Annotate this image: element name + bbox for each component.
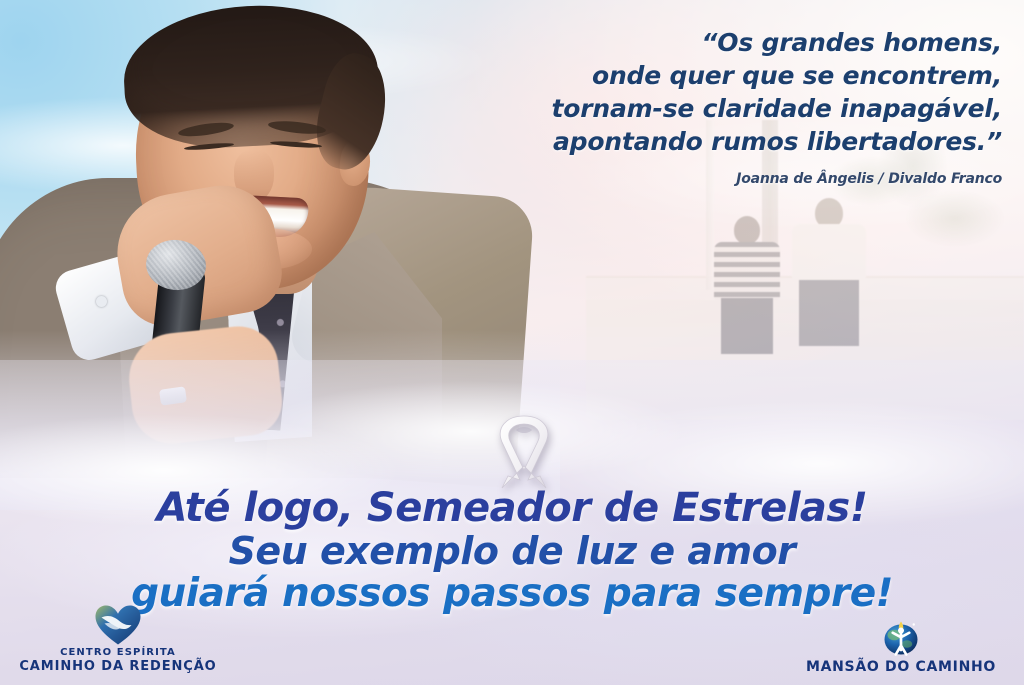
quote-line-1: “Os grandes homens, <box>302 26 1002 59</box>
logo-mansao-do-caminho[interactable]: MANSÃO DO CAMINHO <box>786 619 1016 675</box>
legs <box>721 298 774 354</box>
logo-right-text: MANSÃO DO CAMINHO <box>806 659 996 675</box>
cuff-button <box>96 296 107 307</box>
head <box>734 216 760 244</box>
message-line-1: Até logo, Semeador de Estrelas! <box>0 486 1024 530</box>
quote-line-4: apontando rumos libertadores.” <box>302 125 1002 158</box>
logo-right-line-2: MANSÃO DO CAMINHO <box>806 659 996 675</box>
memorial-poster: “Os grandes homens, onde quer que se enc… <box>0 0 1024 685</box>
striped-shirt <box>714 242 780 300</box>
legs <box>799 280 858 346</box>
globe-figure-icon <box>879 619 923 659</box>
quote-line-3: tornam-se claridade inapagável, <box>302 92 1002 125</box>
light-shirt <box>792 224 866 282</box>
mourning-ribbon-icon <box>486 408 562 494</box>
farewell-message: Até logo, Semeador de Estrelas! Seu exem… <box>0 486 1024 616</box>
message-line-2: Seu exemplo de luz e amor <box>0 530 1024 572</box>
logo-left-line-1: CENTRO ESPÍRITA <box>19 646 216 659</box>
quote-line-2: onde quer que se encontrem, <box>302 59 1002 92</box>
figure-adult <box>792 198 866 348</box>
quote-attribution: Joanna de Ângelis / Divaldo Franco <box>302 170 1002 188</box>
logo-left-text: CENTRO ESPÍRITA CAMINHO DA REDENÇÃO <box>19 646 216 675</box>
logo-centro-espirita-caminho-da-redencao[interactable]: CENTRO ESPÍRITA CAMINHO DA REDENÇÃO <box>8 606 228 675</box>
figure-child <box>714 216 780 348</box>
logo-left-line-2: CAMINHO DA REDENÇÃO <box>19 659 216 675</box>
heart-hands-icon <box>93 606 143 646</box>
hand-holding-microphone <box>125 322 286 447</box>
quote-block: “Os grandes homens, onde quer que se enc… <box>302 26 1002 188</box>
